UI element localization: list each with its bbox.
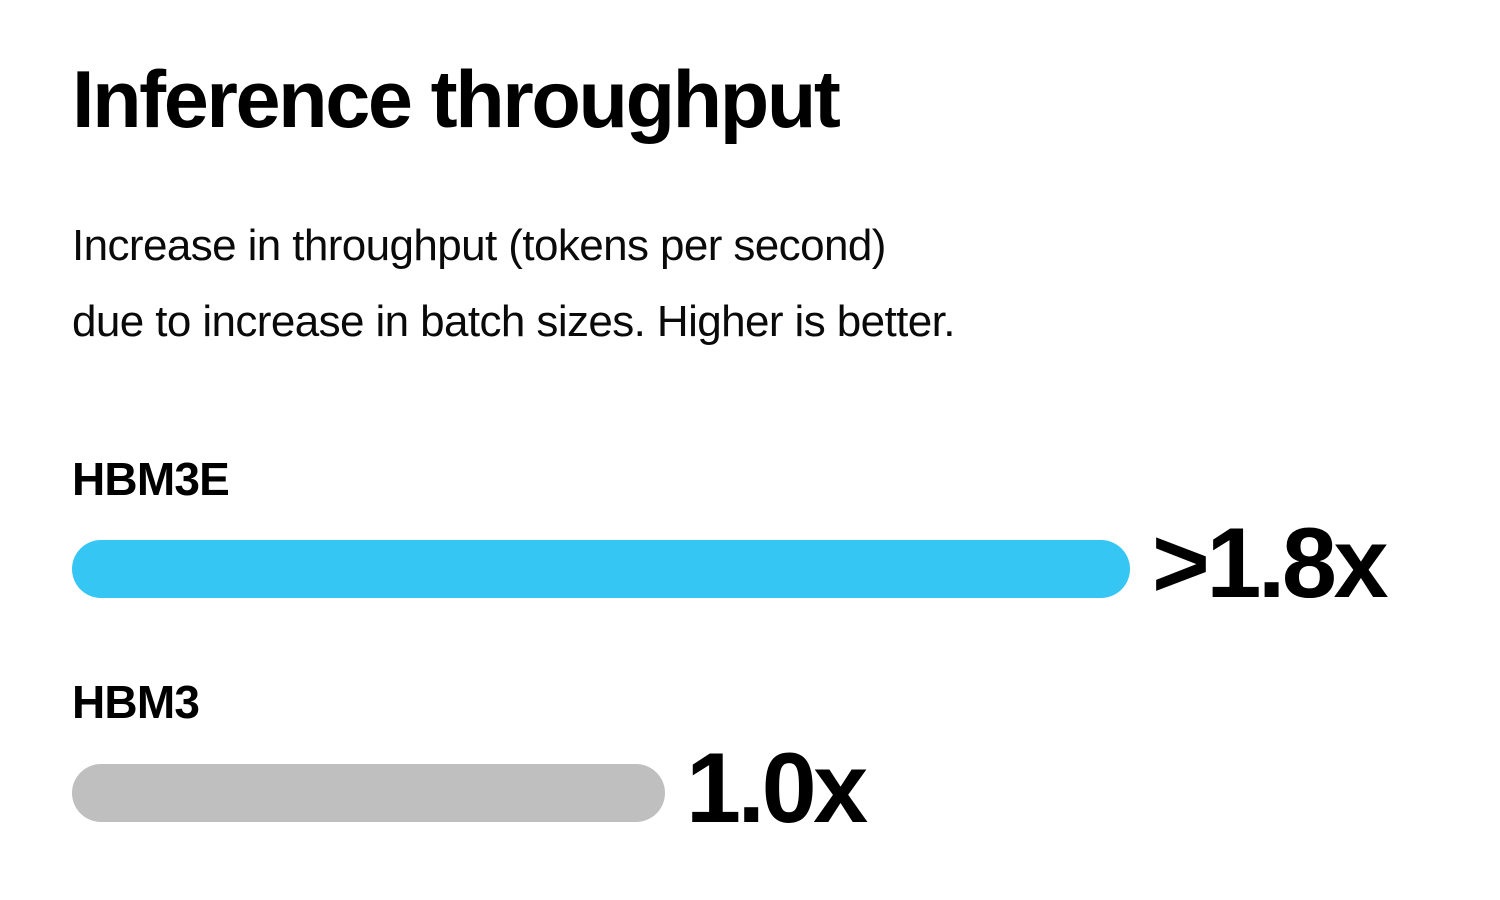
bar-label-hbm3e: HBM3E bbox=[72, 455, 229, 503]
page-title: Inference throughput bbox=[72, 58, 838, 143]
bar-value-hbm3e: >1.8x bbox=[1152, 513, 1385, 612]
chart-subtitle: Increase in throughput (tokens per secon… bbox=[72, 208, 955, 359]
bar-fill-hbm3e bbox=[72, 540, 1130, 598]
bar-fill-hbm3 bbox=[72, 764, 665, 822]
bar-value-hbm3: 1.0x bbox=[686, 738, 865, 837]
bar-label-hbm3: HBM3 bbox=[72, 678, 199, 726]
inference-throughput-chart: Inference throughput Increase in through… bbox=[0, 0, 1500, 900]
bar-track-hbm3 bbox=[72, 764, 665, 822]
bar-track-hbm3e bbox=[72, 540, 1130, 598]
